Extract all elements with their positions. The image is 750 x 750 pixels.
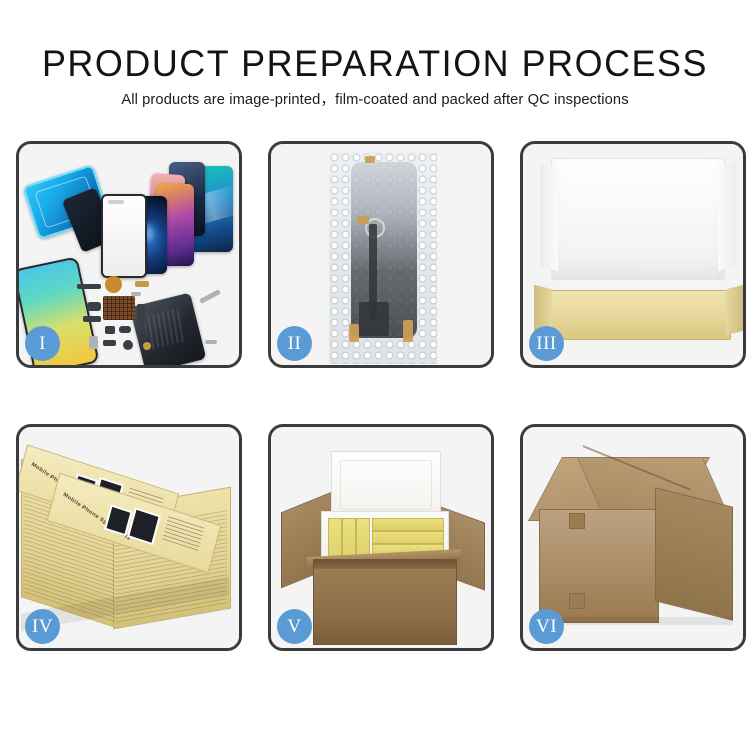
tape-mid (357, 216, 369, 224)
carton-front-face (539, 509, 659, 623)
process-row-1: I II (16, 141, 736, 368)
step-badge-5: V (277, 609, 312, 644)
carton-tab-upper (569, 513, 585, 529)
bubble-wrap-bag (329, 152, 437, 364)
carton-shadow (537, 617, 733, 625)
tape-bottom-left (349, 324, 359, 342)
page-title: PRODUCT PREPARATION PROCESS (11, 42, 739, 86)
carton-base (313, 559, 457, 645)
part-connector-strip (77, 284, 101, 289)
process-grid: I II (16, 141, 736, 707)
step-badge-2: II (277, 326, 312, 361)
part-earpiece (119, 326, 131, 333)
part-gold-bracket (135, 281, 149, 287)
part-flex-cable-b (137, 304, 145, 324)
process-panel-2[interactable]: II (268, 141, 494, 368)
part-button (123, 340, 133, 350)
tool-screwdriver (205, 340, 217, 344)
step-badge-6: VI (529, 609, 564, 644)
part-gold-ring (143, 342, 151, 350)
inner-box-5 (372, 531, 444, 544)
box-stack: Mobile Phone Spare Parts Mobile Phone Sp… (21, 445, 239, 635)
carton-side-face (655, 487, 733, 620)
box-spec-lines-2 (162, 515, 204, 551)
part-camera-module (87, 302, 101, 311)
page-subtitle: All products are image-printed，film-coat… (8, 90, 743, 110)
step-badge-1: I (25, 326, 60, 361)
process-panel-3[interactable]: III (520, 141, 746, 368)
process-panel-6[interactable]: VI (520, 424, 746, 651)
step-badge-3: III (529, 326, 564, 361)
process-panel-4[interactable]: Mobile Phone Spare Parts Mobile Phone Sp… (16, 424, 242, 651)
box-base-kraft (547, 290, 731, 340)
product-preparation-infographic: PRODUCT PREPARATION PROCESS All products… (0, 0, 750, 750)
tape-bottom-right (403, 320, 413, 342)
inner-box-4 (372, 518, 444, 531)
part-speaker-coil (105, 276, 122, 293)
tempered-glass-sheet (101, 194, 147, 278)
flex-connector-block (359, 302, 389, 336)
process-panel-1[interactable]: I (16, 141, 242, 368)
tape-top (365, 156, 375, 163)
part-sim-tray (89, 336, 98, 349)
carton-tab-lower (569, 593, 585, 609)
process-panel-5[interactable]: V (268, 424, 494, 651)
process-row-2: Mobile Phone Spare Parts Mobile Phone Sp… (16, 424, 736, 651)
part-flex-cable-a (83, 316, 101, 322)
part-screw-plate (103, 340, 116, 346)
foam-lid (331, 451, 441, 519)
step-badge-4: IV (25, 609, 60, 644)
part-vibrator (105, 326, 115, 334)
tool-tweezers (199, 289, 221, 304)
part-silver-clip (131, 292, 141, 296)
part-logic-board (103, 296, 135, 320)
